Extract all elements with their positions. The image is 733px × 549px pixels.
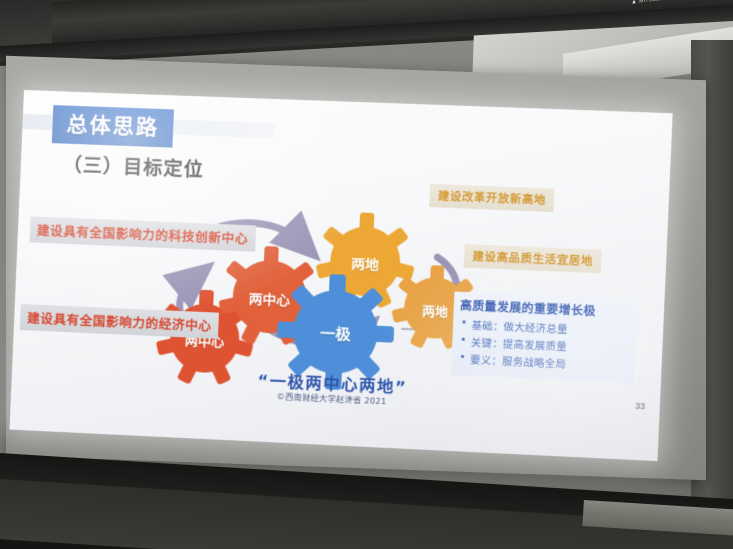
growth-pole-info-box: 高质量发展的重要增长极 基础：做大经济总量 关键：提高发展质量 要义：服务战略全… [451,292,637,384]
presentation-slide: 总体思路 （三）目标定位 [9,90,672,461]
projected-slide-stage: 总体思路 （三）目标定位 [9,90,672,461]
slide-page-number: 33 [635,401,645,412]
callout-reform-highland: 建设改革开放新高地 [429,184,555,212]
room-scene: ▲MITSUBISHI ELECTRIC 总体思路 （三）目标定位 [0,0,733,549]
mitsubishi-logo-icon: ▲ [631,0,637,6]
air-conditioner-brand-label: ▲MITSUBISHI ELECTRIC [631,0,700,6]
projection-screen: 总体思路 （三）目标定位 [0,56,733,476]
